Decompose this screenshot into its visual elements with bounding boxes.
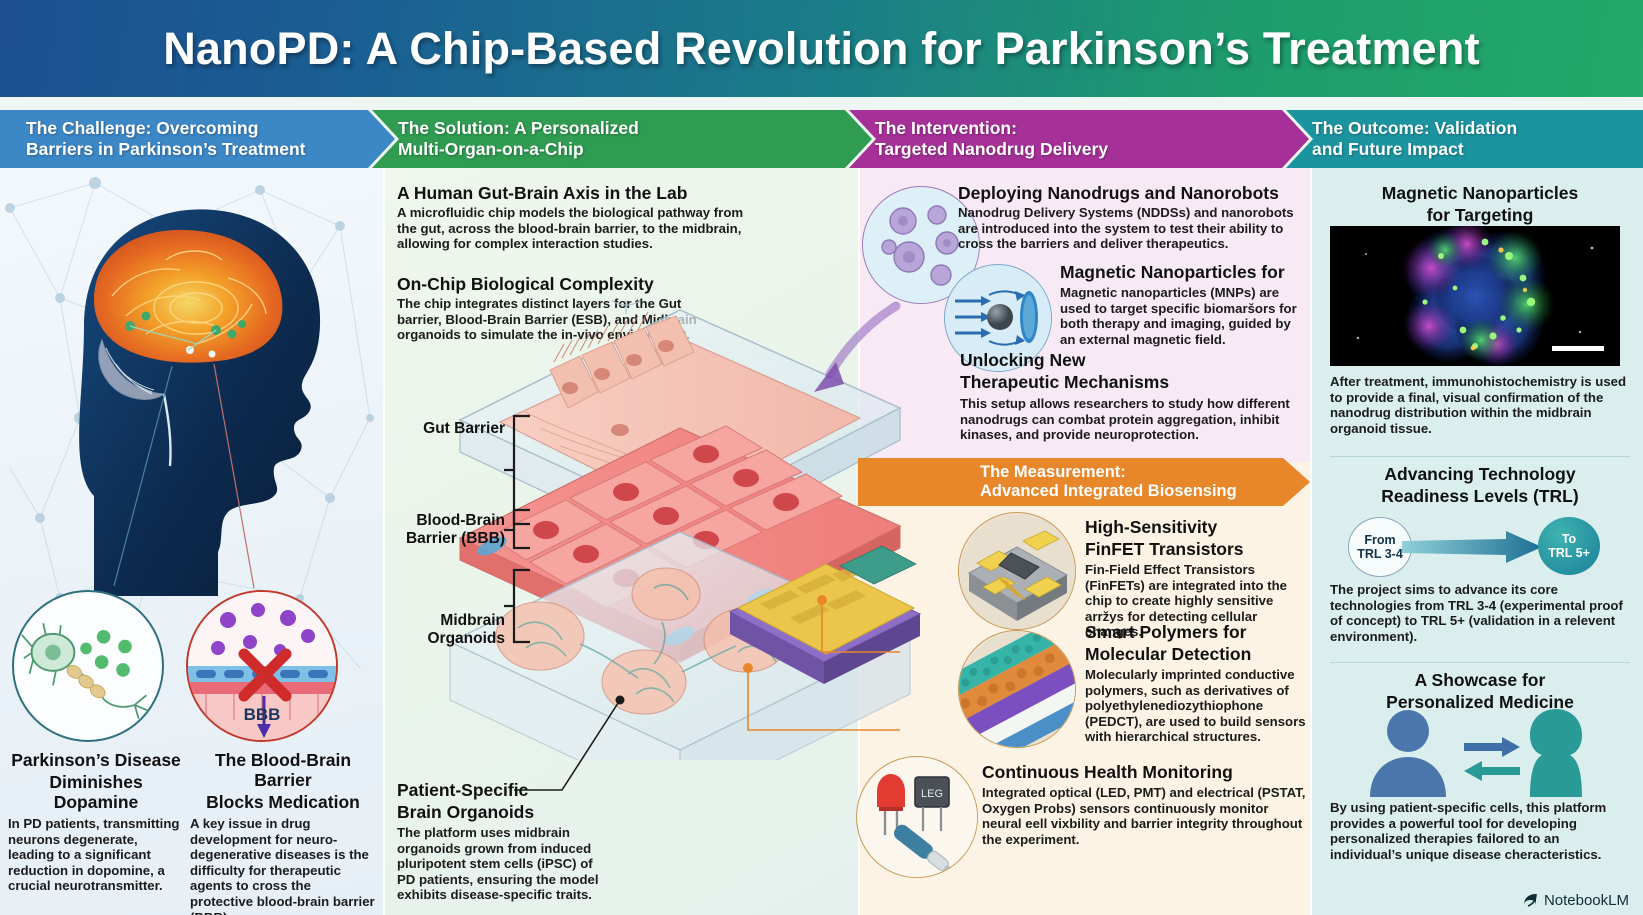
block-unlocking-body: This setup allows researchers to study h…: [960, 396, 1305, 443]
banner-solution-line2: Multi-Organ-on-a-Chip: [398, 139, 872, 160]
column-divider-3: [1310, 168, 1312, 915]
card-bbb-heading-line1: The Blood-Brain Barrier: [190, 750, 376, 790]
block-finfet-heading-line2: FinFET Transistors: [1085, 539, 1307, 559]
block-unlocking-heading-line2: Therapeutic Mechanisms: [960, 372, 1305, 392]
banner-outcome[interactable]: The Outcome: Validation and Future Impac…: [1286, 110, 1643, 168]
brain-head-illustration-icon: [32, 196, 362, 596]
banner-challenge-line1: The Challenge: Overcoming: [26, 118, 395, 139]
divider-outcome-1: [1330, 456, 1630, 457]
block-magnetic-nanoparticles-body: Magnetic nanoparticles (MNPs) are used t…: [1060, 285, 1305, 347]
neuron-icon: [14, 592, 162, 740]
trl-from-line1: From: [1364, 533, 1395, 547]
smart-polymer-circle: [958, 630, 1076, 748]
block-patient-specific-heading-line2: Brain Organoids: [397, 802, 627, 822]
trl-arrow-icon: [1402, 529, 1544, 565]
block-smart-polymers: Smart Polymers for Molecular Detection M…: [1085, 622, 1307, 745]
block-trl-heading-line1: Advancing Technology: [1330, 464, 1630, 484]
block-unlocking-heading-line1: Unlocking New: [960, 350, 1305, 370]
block-mnp-targeting-heading-line1: Magnetic Nanoparticles: [1330, 183, 1630, 203]
banner-challenge[interactable]: The Challenge: Overcoming Barriers in Pa…: [0, 110, 395, 168]
chip-label-blood-brain-barrier: Blood-Brain Barrier (BBB): [371, 512, 505, 548]
chip-label-bbb-line2: Barrier (BBB): [371, 530, 505, 548]
block-mnp-caption-body: After treatment, immunohistochemistry is…: [1330, 374, 1635, 436]
block-personalized-heading-line1: A Showcase for: [1330, 670, 1630, 690]
two-people-exchange-icon: [1330, 705, 1630, 797]
chip-label-mid-line2: Organoids: [371, 630, 505, 648]
block-mnp-targeting-heading-line2: for Targeting: [1330, 205, 1630, 225]
block-personalized-body-text: By using patient-specific cells, this pl…: [1330, 800, 1630, 862]
banner-outcome-line2: and Future Impact: [1312, 139, 1643, 160]
banner-solution[interactable]: The Solution: A Personalized Multi-Organ…: [372, 110, 872, 168]
block-personalized-body: By using patient-specific cells, this pl…: [1330, 800, 1630, 862]
banner-intervention[interactable]: The Intervention: Targeted Nanodrug Deli…: [849, 110, 1309, 168]
card-bbb-blocks-medication: The Blood-Brain Barrier Blocks Medicatio…: [190, 750, 376, 915]
card-parkinsons-body: In PD patients, transmitting neurons deg…: [8, 816, 184, 894]
block-continuous-monitoring-body: Integrated optical (LED, PMT) and electr…: [982, 785, 1307, 847]
finfet-chip-icon: [959, 513, 1076, 630]
banner-measurement-line2: Advanced Integrated Biosensing: [980, 482, 1310, 501]
card-bbb-heading-line2: Blocks Medication: [190, 792, 376, 812]
trl-to-badge: To TRL 5+: [1538, 517, 1600, 575]
led-sensor-icon: LEG: [857, 757, 978, 878]
brand-credit: NotebookLM: [1522, 892, 1629, 909]
nanodrug-arrow-icon: [800, 300, 920, 400]
block-deploying-nanodrugs-body: Nanodrug Delivery Systems (NDDSs) and na…: [958, 205, 1303, 252]
block-mnp-caption: After treatment, immunohistochemistry is…: [1330, 374, 1635, 436]
health-monitoring-circle: LEG: [856, 756, 978, 878]
immunohistochemistry-micrograph: [1330, 226, 1620, 366]
chip-label-gut-barrier: Gut Barrier: [385, 420, 505, 438]
block-trl-body: The project sims to advance its core tec…: [1330, 582, 1630, 644]
block-trl-body-text: The project sims to advance its core tec…: [1330, 582, 1630, 644]
block-gut-brain-axis-body: A microfluidic chip models the biologica…: [397, 205, 749, 252]
card-bbb-body: A key issue in drug development for neur…: [190, 816, 376, 915]
brand-name: NotebookLM: [1544, 892, 1629, 909]
block-on-chip-complexity-heading: On-Chip Biological Complexity: [397, 274, 727, 294]
organoid-fluorescence-icon: [1330, 226, 1620, 366]
block-gut-brain-axis-heading: A Human Gut-Brain Axis in the Lab: [397, 183, 749, 203]
person-right-icon: [1530, 709, 1582, 797]
chip-label-mid-line1: Midbrain: [371, 612, 505, 630]
card-parkinsons-dopamine: Parkinson’s Disease Diminishes Dopamine …: [8, 750, 184, 894]
poster-title-bar: NanoPD: A Chip-Based Revolution for Park…: [0, 0, 1643, 97]
block-continuous-monitoring-heading: Continuous Health Monitoring: [982, 762, 1307, 782]
bbb-badge: BBB: [186, 705, 338, 725]
trl-from-line2: TRL 3-4: [1357, 547, 1403, 561]
block-smart-polymers-heading-line1: Smart Polymers for: [1085, 622, 1307, 642]
neuron-dopamine-circle: [12, 590, 164, 742]
led-chip-label: LEG: [921, 788, 943, 800]
banner-outcome-line1: The Outcome: Validation: [1312, 118, 1643, 139]
block-gut-brain-axis: A Human Gut-Brain Axis in the Lab A micr…: [397, 183, 749, 252]
banner-challenge-line2: Barriers in Parkinson’s Treatment: [26, 139, 395, 160]
section-banner-row: The Challenge: Overcoming Barriers in Pa…: [0, 110, 1643, 168]
block-continuous-monitoring: Continuous Health Monitoring Integrated …: [982, 762, 1307, 847]
organoid-leader-line-icon: [510, 690, 630, 795]
block-smart-polymers-heading-line2: Molecular Detection: [1085, 644, 1307, 664]
trl-progress-graphic: From TRL 3-4 To TRL 5+: [1330, 515, 1630, 577]
card-parkinsons-heading-line1: Parkinson’s Disease: [8, 750, 184, 770]
block-trl-heading-line2: Readiness Levels (TRL): [1330, 486, 1630, 506]
block-magnetic-nanoparticles-heading: Magnetic Nanoparticles for: [1060, 262, 1305, 282]
exchange-arrows-icon: [1464, 737, 1520, 781]
trl-to-line2: TRL 5+: [1548, 546, 1590, 560]
block-deploying-nanodrugs-heading: Deploying Nanodrugs and Nanorobots: [958, 183, 1303, 203]
block-magnetic-nanoparticles: Magnetic Nanoparticles for Magnetic nano…: [1060, 262, 1305, 347]
block-trl: Advancing Technology Readiness Levels (T…: [1330, 464, 1630, 508]
block-mnp-targeting: Magnetic Nanoparticles for Targeting: [1330, 183, 1630, 227]
notebooklm-logo-icon: [1522, 892, 1539, 909]
trl-to-line1: To: [1562, 532, 1576, 546]
person-left-icon: [1370, 710, 1446, 797]
infographic-poster: NanoPD: A Chip-Based Revolution for Park…: [0, 0, 1643, 915]
block-deploying-nanodrugs: Deploying Nanodrugs and Nanorobots Nanod…: [958, 183, 1303, 252]
card-parkinsons-heading-line2: Diminishes Dopamine: [8, 772, 184, 812]
banner-intervention-line2: Targeted Nanodrug Delivery: [875, 139, 1309, 160]
finfet-transistor-circle: [958, 512, 1076, 630]
divider-outcome-2: [1330, 662, 1630, 663]
banner-intervention-line1: The Intervention:: [875, 118, 1309, 139]
banner-measurement-line1: The Measurement:: [980, 463, 1310, 482]
block-patient-specific-body: The platform uses midbrain organoids gro…: [397, 825, 612, 903]
banner-solution-line1: The Solution: A Personalized: [398, 118, 872, 139]
page-title: NanoPD: A Chip-Based Revolution for Park…: [163, 23, 1480, 75]
chip-label-brackets-icon: [500, 410, 556, 650]
chip-label-midbrain-organoids: Midbrain Organoids: [371, 612, 505, 648]
banner-measurement[interactable]: The Measurement: Advanced Integrated Bio…: [858, 458, 1310, 506]
block-smart-polymers-body: Molecularly imprinted conductive polymer…: [1085, 667, 1307, 745]
block-patient-specific-organoids: Patient-Specific Brain Organoids The pla…: [397, 780, 627, 903]
block-finfet-heading-line1: High-Sensitivity: [1085, 517, 1307, 537]
polymer-layers-icon: [959, 631, 1076, 748]
chip-label-bbb-line1: Blood-Brain: [371, 512, 505, 530]
block-unlocking-mechanisms: Unlocking New Therapeutic Mechanisms Thi…: [960, 350, 1305, 443]
